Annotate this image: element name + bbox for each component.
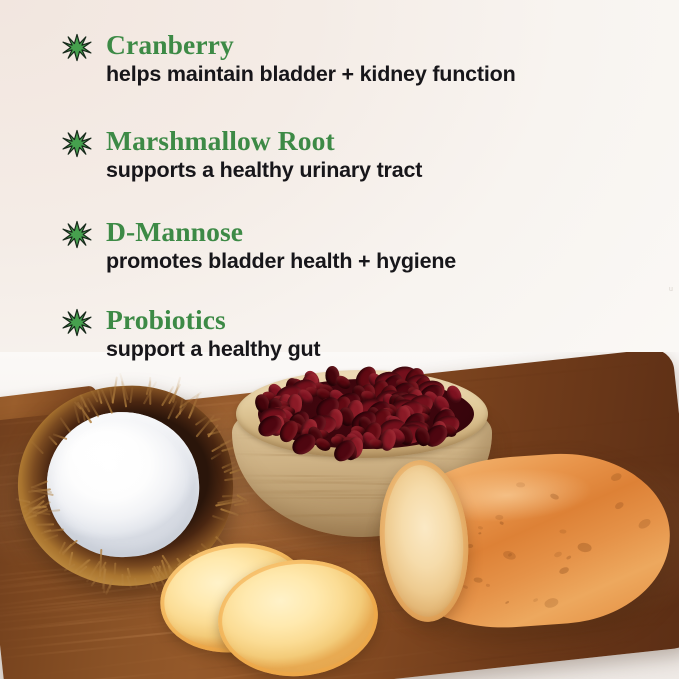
ingredient-description: support a healthy gut [106, 336, 320, 363]
ingredient-name: Cranberry [106, 30, 524, 60]
ingredient-description: helps maintain bladder + kidney function [106, 61, 516, 88]
sparkle-star-icon [62, 220, 92, 250]
ingredient-list: Cranberry helps maintain bladder + kidne… [0, 0, 679, 380]
infographic-stage: Cranberry helps maintain bladder + kidne… [0, 0, 679, 679]
ingredient-name: D-Mannose [106, 217, 463, 247]
ingredient-description: supports a healthy urinary tract [106, 157, 422, 184]
watermark-text: u [669, 285, 677, 295]
list-item-texts: Marshmallow Root supports a healthy urin… [106, 126, 422, 184]
sparkle-star-icon [62, 33, 92, 63]
sparkle-star-icon [62, 308, 92, 338]
list-item: D-Mannose promotes bladder health + hygi… [62, 217, 456, 275]
list-item-texts: D-Mannose promotes bladder health + hygi… [106, 217, 456, 275]
ingredient-name: Marshmallow Root [106, 126, 429, 156]
ingredient-name: Probiotics [106, 305, 325, 335]
sparkle-star-icon [62, 129, 92, 159]
list-item-texts: Cranberry helps maintain bladder + kidne… [106, 30, 516, 88]
list-item: Marshmallow Root supports a healthy urin… [62, 126, 422, 184]
product-photo [0, 352, 679, 679]
list-item-texts: Probiotics support a healthy gut [106, 305, 320, 363]
list-item: Cranberry helps maintain bladder + kidne… [62, 30, 516, 88]
ingredient-description: promotes bladder health + hygiene [106, 248, 456, 275]
list-item: Probiotics support a healthy gut [62, 305, 320, 363]
